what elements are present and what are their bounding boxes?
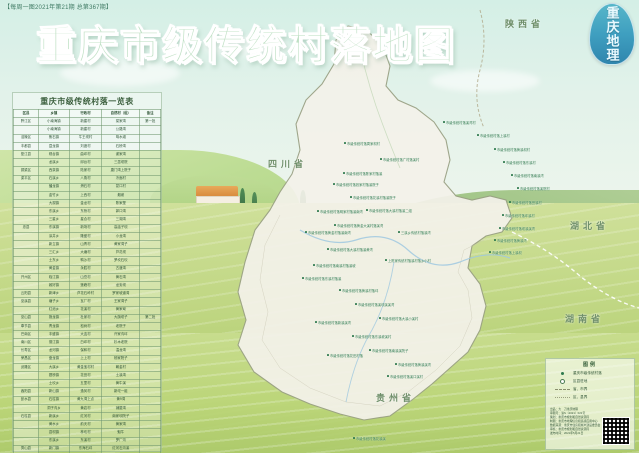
table-header-row: 区县乡镇行政村自然村（组）备注 [14,110,161,118]
village-marker-dot [369,349,371,351]
village-marker-dot [315,321,317,323]
table-cell: 五里村 [69,380,101,388]
village-dot-icon [561,372,564,375]
table-cell: 永胜村 [69,265,101,273]
village-label: 市级传统村落广村落溪村 [383,157,419,162]
table-cell: 老院子 [102,322,140,330]
table-cell: 东桥村 [69,208,101,216]
table-cell: 龙河镇 [38,347,69,355]
table-cell [140,380,161,388]
table-cell: 上上村 [69,355,101,363]
table-row: 小南海镇新建村公路湾 [14,126,161,134]
poster-root: 【每周一图2021年第21期 总第367期】 重庆市级传统村落地图 重庆地理 陕… [0,0,639,453]
table-cell [140,257,161,265]
table-cell: 蹇桥镇 [38,372,69,380]
table-cell: 小南海镇 [38,126,69,134]
credits-block: 出品：大 刀重庆地理审图号：渝S（2021）021号策划：重庆市规划和自然资源局… [550,407,598,435]
village-marker-dot [313,264,315,266]
table-cell: 蒙口村 [102,183,140,191]
table-cell: 响水滩 [102,134,140,142]
table-cell [140,208,161,216]
village-label: 市级传统村落溪院村 [520,186,550,191]
table-cell [140,134,161,142]
table-cell [14,404,39,412]
table-row: 云阳县新津乡芦花石岭村罗家坡道湾 [14,290,161,298]
table-cell: 大溪乡 [38,363,69,371]
village-marker-dot [305,231,307,233]
table-cell: 罗厂沟 [102,437,140,445]
table-cell: 黔江区 [14,118,39,126]
table-cell: 长寿区 [14,347,39,355]
legend-label: 区、县界 [573,395,587,400]
legend-item: 区县驻地 [546,377,634,385]
village-marker-dot [334,224,336,226]
table-cell: 第一批 [140,118,161,126]
table-cell [140,306,161,314]
table-cell: 八角村 [69,175,101,183]
village-label: 市级传统村落南溪村落溪坡 [316,263,356,268]
table-cell [140,216,161,224]
legend-symbol-village-dot [554,372,570,375]
table-row: 蟠龙镇滑石村蒙口村 [14,183,161,191]
table-cell: 石桥湾 [102,142,140,150]
table-cell: 温龙湾 [102,347,140,355]
table-cell [140,412,161,420]
village-label: 市级传统村落新溪溪湾 [318,320,351,325]
village-marker-dot [302,277,304,279]
table-cell: 唐门湾上院子 [102,167,140,175]
table-cell: 前天村 [69,421,101,429]
table-body: 黔江区小南海镇新建村菜家湾第一批小南海镇新建村公路湾涪陵区焦石镇牛王坝村响水滩丰… [14,118,161,453]
table-cell: 金竹乡 [38,191,69,199]
table-row: 巴南区丰盛镇大连村许家沟坪 [14,331,161,339]
village-label: 市级传统村落钱家村落溪院子 [336,182,379,187]
table-row: 黄水乡前天村黄家湾 [14,421,161,429]
table-cell [14,372,39,380]
table-cell [14,429,39,437]
legend-box: 图例 重庆市级传统村落区县驻地省、市界区、县界 出品：大 刀重庆地理审图号：渝S… [545,358,635,450]
table-cell: 新坨一组 [102,388,140,396]
village-marker-dot [343,172,345,174]
village-marker-dot [344,142,346,144]
village-marker-dot [494,148,496,150]
table-row: 三汇乡大塘村芦花坝 [14,249,161,257]
table-cell: 三湖湾 [102,216,140,224]
table-cell: 罗坎石坎 [102,257,140,265]
province-label: 湖北省 [570,219,609,232]
table-cell: 龙安坝 [102,281,140,289]
table-cell [14,183,39,191]
table-cell [140,347,161,355]
table-cell: 第二批 [140,314,161,322]
village-marker-dot [502,214,504,216]
village-marker-dot [355,303,357,305]
village-marker-dot [509,201,511,203]
county-seat-icon [560,379,565,384]
legend-symbol-province-boundary [554,389,570,390]
table-cell: 鸭沙村 [69,257,101,265]
village-marker-dot [366,209,368,211]
table-cell: 蟠龙镇 [38,183,69,191]
village-marker-dot [353,437,355,439]
table-cell: 石柱县 [14,412,39,420]
legend-symbol-county-boundary [554,397,570,398]
table-cell: 巫溪县 [14,298,39,306]
table-cell: 花田村 [69,372,101,380]
table-cell: 芦花坝 [102,249,140,257]
table-cell: 逸凤村 [69,388,101,396]
village-label: 市级传统村落田溪村 [512,200,542,205]
table-cell: 红河村 [69,412,101,420]
legend-label: 区县驻地 [573,379,587,384]
table-cell [14,126,39,134]
village-label: 市级传统村落花田村落 [330,353,363,358]
table-cell: 滑石村 [69,183,101,191]
table-cell: 暨龙镇 [38,142,69,150]
table-cell: 黄金镇 [38,265,69,273]
table-cell: 涂井乡 [38,232,69,240]
table-cell [14,159,39,167]
table-cell [14,216,39,224]
table-cell: 黄牛溪 [102,380,140,388]
table-cell [140,372,161,380]
table-row: 土坎乡五里村黄牛溪 [14,380,161,388]
table-cell: 林坎村 [69,429,101,437]
village-marker-dot [477,134,479,136]
table-cell: 抱龙镇 [38,314,69,322]
table-cell: 丰都县 [14,142,39,150]
table-cell: 山青村 [69,241,101,249]
table-cell: 三汇乡 [38,249,69,257]
table-cell: 奉节县 [14,322,39,330]
table-cell: 大旗坝子 [102,314,140,322]
table-cell: 东溪乡 [38,437,69,445]
table-cell [140,249,161,257]
province-label: 湖南省 [565,312,604,325]
table-cell [140,224,161,232]
table-row: 武隆区大溪乡黄金宝村村朝金村 [14,363,161,371]
table-row: 新立镇山青村黄家湾子 [14,241,161,249]
table-row: 南川区德江镇白坪村杉木老院 [14,339,161,347]
village-label: 市级传统村落大溪村落溪二组 [369,208,412,213]
village-marker-dot [339,289,341,291]
legend-item: 区、县界 [546,393,634,401]
table-cell: 三星乡 [38,216,69,224]
table-cell: 松树村 [69,322,101,330]
village-marker-dot [327,248,329,250]
table-cell: 上西村 [69,191,101,199]
table-cell: 黄9湾 [102,396,140,404]
table-cell: 东溪村 [69,437,101,445]
table-cell: 砚台镇 [38,150,69,158]
village-label: 市级传统村落溪湾村 [446,120,476,125]
table-cell [140,150,161,158]
table-cell: 魁牛 [102,429,140,437]
table-cell: 三墨坝院 [102,159,140,167]
village-label: 市级传统村落陈家村落溪 [346,171,382,176]
table-col-header: 自然村（组） [102,110,140,118]
table-cell: 新场村 [69,224,101,232]
table-cell: 铺屋湾 [102,404,140,412]
table-col-header: 行政村 [69,110,101,118]
table-cell: 土坎乡 [38,380,69,388]
table-cell: 垫江县 [14,150,39,158]
table-row: 梁平区石溪乡八角村冷面村 [14,175,161,183]
village-label: 市级传统村落花溪溪 [356,436,386,441]
table-cell: 开州区 [14,273,39,281]
village-marker-dot [398,231,400,233]
table-cell [14,437,39,445]
table-row: 黔江区小南海镇新建村菜家湾第一批 [14,118,161,126]
table-cell: 金龙村 [69,200,101,208]
table-cell [140,445,161,453]
table-cell: 花溪村 [69,306,101,314]
village-label: 市级传统村落黄溪溪湾 [398,362,431,367]
table-cell: 牛王坝村 [69,134,101,142]
table-cell: 南家坝院子 [102,412,140,420]
table-cell: 新山镇 [38,388,69,396]
village-marker-dot [494,239,496,241]
village-label: 市级传统村落南溪溪院子 [372,348,408,353]
table-cell: 王家湾子 [102,298,140,306]
table-cell [140,404,161,412]
table-row: 红池乡花溪村黄家坳 [14,306,161,314]
table-cell: 东溪镇 [38,224,69,232]
village-label: 市级传统村落黄金村落溪南湾 [308,230,351,235]
province-label: 贵州省 [376,391,415,404]
table-row: 土东乡鸭沙村罗坎石坎 [14,257,161,265]
table-cell: 黄家坳 [102,306,140,314]
village-label: 市级传统村落黄溪坝村 [497,147,530,152]
table-cell: 许家沟坪 [102,331,140,339]
village-table: 区县乡镇行政村自然村（组）备注 黔江区小南海镇新建村菜家湾第一批小南海镇新建村公… [13,109,161,453]
province-boundary-icon [555,389,570,390]
table-cell [140,159,161,167]
table-cell: 洞子沟乡 [38,404,69,412]
province-label: 四川省 [268,157,307,170]
table-cell [140,388,161,396]
table-cell: 盘龙镇 [38,355,69,363]
table-cell: 黄石湾 [102,273,140,281]
table-cell: 彭水县 [14,396,39,404]
table-cell [140,363,161,371]
village-marker-dot [333,183,335,185]
table-cell: 红河石沟溪 [102,445,140,453]
table-cell: 杨家院子 [102,355,140,363]
village-label: 市级传统村落大溪小溪村 [382,316,418,321]
table-row: 铜梁区西泉镇陆家村唐门湾上院子 [14,167,161,175]
table-cell: 陆家村 [69,167,101,175]
table-cell [140,421,161,429]
table-cell [14,380,39,388]
village-marker-dot [380,158,382,160]
table-cell: 谢家湾 [102,150,140,158]
table-cell [140,232,161,240]
legend-title: 图例 [546,359,634,369]
table-cell: 土溪湾 [102,372,140,380]
village-label: 上陈家传统村落溪村落乡小村 [388,258,431,263]
table-cell: 塘子乡 [38,298,69,306]
table-cell: 焦石镇 [38,134,69,142]
table-cell: 杜家村 [69,314,101,322]
table-cell: 保和村 [69,347,101,355]
table-cell: 大塘村 [69,249,101,257]
table-row: 奉节县青龙镇松树村老院子 [14,322,161,330]
table-cell: 公路湾 [102,126,140,134]
table-cell: 隆盛村 [69,232,101,240]
table-row: 秀山县新门镇东海石坪红河石沟溪 [14,445,161,453]
table-row: 巫溪县塘子乡瓦厂村王家湾子 [14,298,161,306]
village-label: 市级传统村落黄溪湾 [497,238,527,243]
table-cell: 忠县 [14,224,39,232]
table-row: 县坝镇林坎村魁牛 [14,429,161,437]
county-boundary-icon [555,397,570,398]
table-cell: 大观镇 [38,200,69,208]
table-row: 东溪乡东桥村郭口湾 [14,208,161,216]
issue-line: 【每周一图2021年第21期 总第367期】 [4,2,112,11]
village-marker-dot [352,335,354,337]
table-cell: 龙溪乡 [38,159,69,167]
table-row: 开州区临江镇山岳村黄石湾 [14,273,161,281]
table-cell [140,265,161,273]
table-cell: 敦好镇 [38,281,69,289]
table-cell: 南川区 [14,339,39,347]
table-row: 涂井乡隆盛村小龙湾 [14,232,161,240]
village-label: 市级传统村落南溪湾 [514,173,544,178]
table-cell [140,396,161,404]
table-cell: 东海石坪 [69,445,101,453]
village-marker-dot [443,121,445,123]
table-row: 三星乡星合村三湖湾 [14,216,161,224]
table-cell: 新立镇 [38,241,69,249]
table-title: 重庆市级传统村落一览表 [13,93,161,109]
table-cell: 郭口湾 [102,208,140,216]
table-cell [14,249,39,257]
village-label: 市级传统村落溪坝溪溪湾 [358,302,394,307]
village-marker-dot [379,317,381,319]
table-cell: 梁平区 [14,175,39,183]
village-marker-dot [499,227,501,229]
table-cell [14,241,39,249]
table-cell: 大连村 [69,331,101,339]
village-marker-dot [503,161,505,163]
table-cell: 黄家湾 [102,421,140,429]
village-label: 市级传统村落周家坝村 [347,141,380,146]
table-cell [140,331,161,339]
table-col-header: 备注 [140,110,161,118]
table-cell: 白坪村 [69,339,101,347]
table-cell [140,290,161,298]
village-marker-dot [489,251,491,253]
table-cell: 莲峰村 [69,281,101,289]
table-row: 丰都县暨龙镇刘渡村石桥湾 [14,142,161,150]
table-cell [140,142,161,150]
table-cell: 西泉镇 [38,167,69,175]
table-cell: 新建村 [69,126,101,134]
table-cell [140,355,161,363]
table-cell [140,191,161,199]
table-cell: 山岳村 [69,273,101,281]
table-cell: 云阳县 [14,290,39,298]
village-marker-dot [395,363,397,365]
table-cell [140,281,161,289]
qr-pattern [603,418,629,444]
table-col-header: 区县 [14,110,39,118]
table-cell: 邱台村 [69,159,101,167]
table-row: 石柱县新溪乡红河村南家坝院子 [14,412,161,420]
province-label: 陕西省 [505,17,544,30]
credit-line: 发布时间：2021年5月21日 [550,431,598,435]
table-cell: 新津乡 [38,290,69,298]
legend-label: 重庆市级传统村落 [573,371,602,376]
table-row: 涪陵区焦石镇牛王坝村响水滩 [14,134,161,142]
village-label: 市级传统村落东溪坡溪村 [355,334,391,339]
table-cell [140,339,161,347]
table-cell: 杉木老院 [102,339,140,347]
table-cell [140,126,161,134]
village-label: 市级传统村落东溪村落溪 [305,276,341,281]
table-cell: 高庙子坝 [102,224,140,232]
village-label: 市级传统村落东溪村 [506,160,536,165]
village-marker-dot [511,174,513,176]
table-cell: 小龙湾 [102,232,140,240]
table-row: 彭水县石柱镇黄九湾上点黄9湾 [14,396,161,404]
village-marker-dot [350,196,352,198]
table-cell: 星合村 [69,216,101,224]
table-cell [14,232,39,240]
table-row: 酉阳县新山镇逸凤村新坨一组 [14,388,161,396]
table-cell: 临江镇 [38,273,69,281]
village-label: 三溪乡传统村落溪湾 [401,230,431,235]
table-cell: 冷面村 [102,175,140,183]
table-cell [14,306,39,314]
table-cell [140,167,161,175]
table-cell: 秀山县 [14,445,39,453]
table-cell [14,281,39,289]
table-cell [14,265,39,273]
table-cell [140,437,161,445]
table-cell: 石柱镇 [38,396,69,404]
table-row: 巫山县抱龙镇杜家村大旗坝子第二批 [14,314,161,322]
table-cell: 罗家坡道湾 [102,290,140,298]
table-cell: 丰盛镇 [38,331,69,339]
table-cell [140,298,161,306]
table-row: 黄金镇永胜村古渡湾 [14,265,161,273]
table-cell [140,175,161,183]
village-table-panel: 重庆市级传统村落一览表 区县乡镇行政村自然村（组）备注 黔江区小南海镇新建村菜家… [12,92,162,452]
table-row: 大观镇金龙村陈家堡 [14,200,161,208]
table-cell: 新溪乡 [38,412,69,420]
table-row: 长寿区龙河镇保和村温龙湾 [14,347,161,355]
table-cell [14,208,39,216]
table-cell: 烟坡 [102,191,140,199]
table-cell: 酉阳县 [14,388,39,396]
village-label: 市级传统村落黄溪村落坪 [342,288,378,293]
legend-item: 省、市界 [546,385,634,393]
table-row: 洞子沟乡黄岩村铺屋湾 [14,404,161,412]
table-cell: 新建村 [69,118,101,126]
table-cell [140,273,161,281]
table-cell: 芦花石岭村 [69,290,101,298]
table-row: 龙溪乡邱台村三墨坝院 [14,159,161,167]
table-cell: 石溪乡 [38,175,69,183]
table-row: 金竹乡上西村烟坡 [14,191,161,199]
village-label: 市级传统村落大溪村落溪黄湾 [330,247,373,252]
table-cell: 瓦厂村 [69,298,101,306]
table-cell [140,322,161,330]
table-cell: 红池乡 [38,306,69,314]
table-cell [140,200,161,208]
